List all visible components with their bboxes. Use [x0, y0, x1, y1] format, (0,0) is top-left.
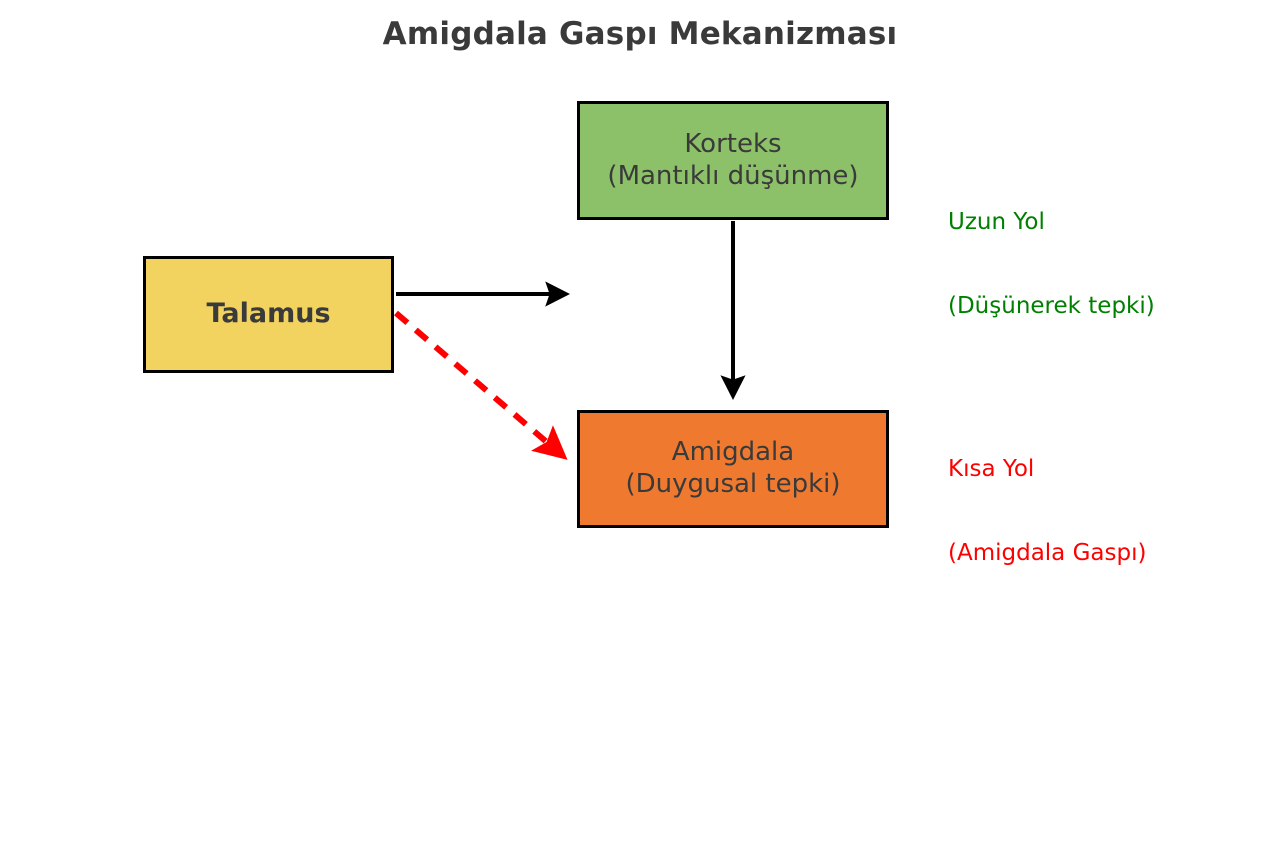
node-korteks-line1: Korteks: [684, 129, 781, 161]
node-talamus[interactable]: Talamus: [143, 256, 394, 373]
node-amigdala[interactable]: Amigdala (Duygusal tepki): [577, 410, 889, 528]
annotation-short-path: Kısa Yol (Amigdala Gaspı): [948, 399, 1146, 623]
node-korteks[interactable]: Korteks (Mantıklı düşünme): [577, 101, 889, 220]
node-talamus-line1: Talamus: [206, 298, 330, 331]
annotation-long-path-line1: Uzun Yol: [948, 208, 1155, 236]
edge-talamus-to-amigdala: [396, 313, 563, 456]
node-amigdala-line1: Amigdala: [672, 437, 794, 469]
annotation-long-path-line2: (Düşünerek tepki): [948, 292, 1155, 320]
diagram-canvas: Amigdala Gaspı Mekanizması Talamus Korte…: [0, 0, 1280, 853]
annotation-short-path-line2: (Amigdala Gaspı): [948, 539, 1146, 567]
node-korteks-line2: (Mantıklı düşünme): [607, 161, 858, 193]
node-amigdala-line2: (Duygusal tepki): [625, 469, 840, 501]
annotation-long-path: Uzun Yol (Düşünerek tepki): [948, 152, 1155, 376]
annotation-short-path-line1: Kısa Yol: [948, 455, 1146, 483]
